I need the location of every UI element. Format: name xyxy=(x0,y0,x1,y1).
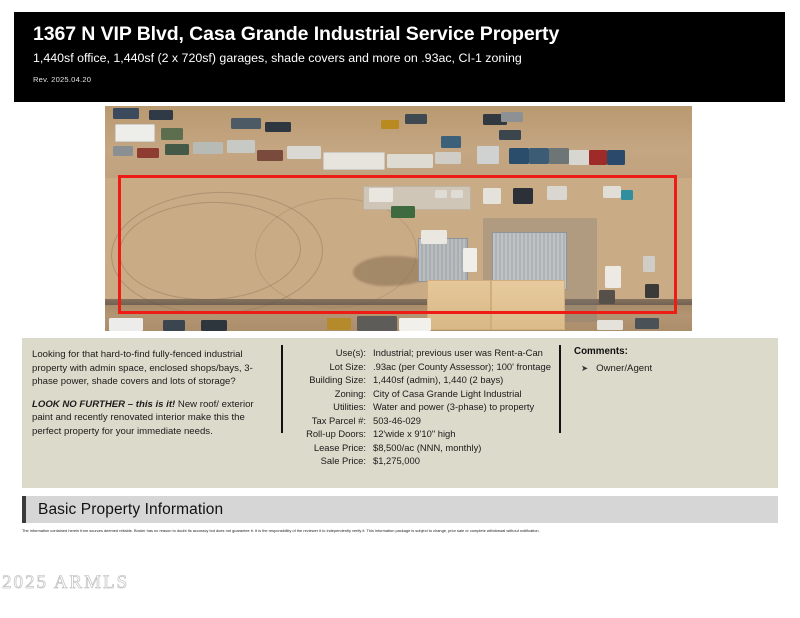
flyer-header: 1367 N VIP Blvd, Casa Grande Industrial … xyxy=(14,12,785,102)
vehicle xyxy=(509,148,529,164)
vehicle xyxy=(597,320,623,330)
spec-value: 12'wide x 9'10" high xyxy=(373,427,552,441)
vehicle xyxy=(161,128,183,140)
table-row: Building Size: 1,440sf (admin), 1,440 (2… xyxy=(294,373,552,387)
aerial-property-photo xyxy=(105,106,692,331)
spec-value: City of Casa Grande Light Industrial xyxy=(373,387,552,401)
armls-watermark: 2025 ARMLS xyxy=(2,572,129,594)
photo-canvas xyxy=(105,106,692,331)
spec-value: 503-46-029 xyxy=(373,414,552,428)
column-divider-right xyxy=(559,345,561,433)
description-lead-in: LOOK NO FURTHER – this is it! xyxy=(32,399,175,410)
page-title: 1367 N VIP Blvd, Casa Grande Industrial … xyxy=(33,24,785,45)
vehicle xyxy=(569,150,589,165)
spec-label: Roll-up Doors: xyxy=(294,427,373,441)
vehicle xyxy=(499,130,521,140)
spec-label: Tax Parcel #: xyxy=(294,414,373,428)
equipment xyxy=(327,318,351,330)
spec-value: .93ac (per County Assessor); 100' fronta… xyxy=(373,360,552,374)
trailer xyxy=(115,124,155,142)
spec-label: Lot Size: xyxy=(294,360,373,374)
spec-label: Zoning: xyxy=(294,387,373,401)
trailer xyxy=(109,318,143,331)
vehicle xyxy=(113,108,139,119)
vehicle xyxy=(607,150,625,165)
vehicle xyxy=(165,144,189,155)
vehicle xyxy=(529,148,549,164)
vehicle xyxy=(381,120,399,129)
table-row: Utilities: Water and power (3-phase) to … xyxy=(294,400,552,414)
table-row: Sale Price: $1,275,000 xyxy=(294,454,552,468)
vehicle xyxy=(441,136,461,148)
column-divider-left xyxy=(281,345,283,433)
vehicle xyxy=(227,140,255,153)
spec-value: 1,440sf (admin), 1,440 (2 bays) xyxy=(373,373,552,387)
comment-text: Owner/Agent xyxy=(596,363,652,374)
vehicle xyxy=(501,112,523,122)
vehicle xyxy=(201,320,227,331)
revision-date: Rev. 2025.04.20 xyxy=(33,75,785,84)
spec-label: Sale Price: xyxy=(294,454,373,468)
spec-value: $8,500/ac (NNN, monthly) xyxy=(373,441,552,455)
spec-label: Lease Price: xyxy=(294,441,373,455)
spec-value: Industrial; previous user was Rent-a-Can xyxy=(373,346,552,360)
vehicle xyxy=(435,152,461,164)
table-row: Lot Size: .93ac (per County Assessor); 1… xyxy=(294,360,552,374)
property-boundary-outline xyxy=(118,175,677,314)
description-paragraph-1: Looking for that hard-to-find fully-fenc… xyxy=(32,348,260,389)
vehicle xyxy=(231,118,261,129)
vehicle xyxy=(265,122,291,132)
property-specs-table: Use(s): Industrial; previous user was Re… xyxy=(294,346,552,468)
vehicle xyxy=(149,110,173,120)
trailer xyxy=(399,318,431,331)
spec-label: Building Size: xyxy=(294,373,373,387)
spec-label: Utilities: xyxy=(294,400,373,414)
description-paragraph-2: LOOK NO FURTHER – this is it! New roof/ … xyxy=(32,398,260,439)
list-item: ➤ Owner/Agent xyxy=(574,363,764,374)
table-row: Tax Parcel #: 503-46-029 xyxy=(294,414,552,428)
vehicle xyxy=(405,114,427,124)
property-description: Looking for that hard-to-find fully-fenc… xyxy=(32,348,260,448)
property-info-panel: Looking for that hard-to-find fully-fenc… xyxy=(22,338,778,488)
vehicle xyxy=(163,320,185,331)
vehicle xyxy=(635,318,659,329)
comments-section: Comments: ➤ Owner/Agent xyxy=(574,346,764,374)
spec-label: Use(s): xyxy=(294,346,373,360)
section-title: Basic Property Information xyxy=(38,501,223,519)
page-subtitle: 1,440sf office, 1,440sf (2 x 720sf) gara… xyxy=(33,52,785,66)
arrow-bullet-icon: ➤ xyxy=(581,363,588,374)
vehicle xyxy=(257,150,283,161)
table-row: Roll-up Doors: 12'wide x 9'10" high xyxy=(294,427,552,441)
section-header-bar: Basic Property Information xyxy=(22,496,778,523)
spec-value: $1,275,000 xyxy=(373,454,552,468)
trailer xyxy=(357,316,397,331)
vehicle xyxy=(589,150,607,165)
vehicle xyxy=(137,148,159,158)
comments-title: Comments: xyxy=(574,346,764,357)
vehicle xyxy=(549,148,569,164)
table-row: Use(s): Industrial; previous user was Re… xyxy=(294,346,552,360)
vehicle xyxy=(477,146,499,164)
vehicle xyxy=(113,146,133,156)
vehicle xyxy=(193,142,223,154)
disclaimer-text: The information contained herein from so… xyxy=(22,528,782,533)
spec-value: Water and power (3-phase) to property xyxy=(373,400,552,414)
trailer xyxy=(387,154,433,168)
trailer xyxy=(323,152,385,170)
table-row: Zoning: City of Casa Grande Light Indust… xyxy=(294,387,552,401)
vehicle xyxy=(287,146,321,159)
table-row: Lease Price: $8,500/ac (NNN, monthly) xyxy=(294,441,552,455)
